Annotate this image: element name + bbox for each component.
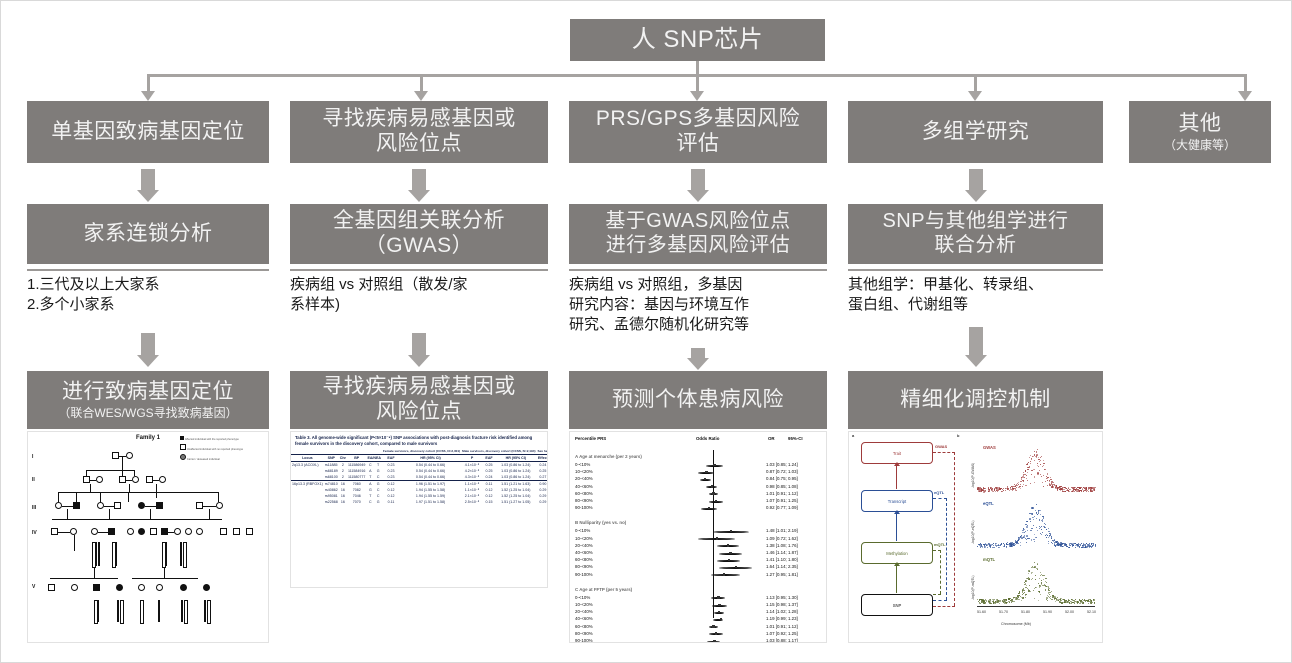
- forest-plot-panel[interactable]: Percentile PRS Odds Ratio OR 95%-CI A Ag…: [569, 431, 827, 643]
- forest-row-values: 1.07 [0.91; 1.25]: [766, 498, 798, 503]
- box-linkage[interactable]: 家系连锁分析: [27, 204, 269, 264]
- manhattan-point: [992, 489, 993, 490]
- manhattan-point: [1032, 566, 1033, 567]
- manhattan-point: [1020, 545, 1021, 546]
- box-other[interactable]: 其他 （大健康等）: [1129, 101, 1271, 163]
- manhattan-point: [1023, 530, 1024, 531]
- manhattan-point: [1037, 514, 1038, 515]
- manhattan-point: [1034, 534, 1035, 535]
- generation-label-1: I: [32, 454, 33, 460]
- manhattan-point: [1036, 518, 1037, 519]
- forest-row-values: 1.41 [1.10; 1.80]: [766, 557, 798, 562]
- manhattan-point: [1034, 469, 1036, 471]
- box-linkage-label: 家系连锁分析: [84, 222, 213, 247]
- manhattan-point: [1046, 597, 1048, 599]
- manhattan-point: [990, 600, 991, 601]
- manhattan-point: [1088, 491, 1089, 492]
- gwas-table-body: 2q13.3 (ACOXL)rs118852111586949CT0.230.5…: [291, 462, 548, 506]
- manhattan-point: [1038, 466, 1039, 467]
- manhattan-point: [1037, 530, 1038, 531]
- forest-point-estimate: [728, 559, 730, 561]
- manhattan-point: [1073, 545, 1074, 546]
- manhattan-point: [1011, 545, 1012, 546]
- arrow-to-risk-prediction: [684, 348, 712, 370]
- forest-point-estimate: [717, 596, 719, 598]
- manhattan-point: [1057, 543, 1058, 544]
- forest-row-band: 60-<80%: [575, 624, 593, 629]
- forest-point-estimate: [713, 640, 715, 642]
- forest-null-axis: [713, 450, 714, 618]
- manhattan-point: [1016, 487, 1017, 488]
- fan-arrow-3: [690, 91, 704, 101]
- gwas-table-cell: 7070: [347, 499, 366, 505]
- title-box[interactable]: 人 SNP芯片: [570, 19, 825, 61]
- manhattan-point: [1055, 485, 1056, 486]
- manhattan-point: [1085, 490, 1086, 491]
- manhattan-point: [1045, 469, 1046, 470]
- manhattan-point: [1077, 487, 1078, 488]
- ped-node: [126, 452, 133, 459]
- ped-node: [71, 584, 78, 591]
- forest-row-values: 1.27 [0.95; 1.81]: [766, 572, 798, 577]
- legend-item-1: Unaffected individual with no reported p…: [180, 444, 243, 451]
- manhattan-point: [1064, 600, 1065, 601]
- notes-omics: 其他组学：甲基化、转录组、蛋白组、代谢组等: [848, 269, 1103, 315]
- manhattan-point: [1023, 588, 1024, 589]
- manhattan-point: [1045, 585, 1046, 586]
- forest-row-band: 10-<20%: [575, 469, 593, 474]
- manhattan-y-label: -log10(P-eQTL): [971, 520, 975, 544]
- manhattan-point: [1072, 546, 1073, 547]
- legend-item-2: Carrier / deceased individual: [180, 454, 243, 461]
- manhattan-point: [989, 600, 990, 601]
- manhattan-point: [1011, 600, 1012, 601]
- manhattan-point: [1009, 599, 1010, 600]
- omics-panel[interactable]: a b Trait Transcript Methylation SNP: [848, 431, 1103, 643]
- manhattan-point: [1028, 573, 1029, 574]
- forest-row-band: 0-<10%: [575, 462, 590, 467]
- forest-row-values: 1.03 [0.88; 1.17]: [766, 638, 798, 643]
- arrow-to-susceptibility-result: [405, 333, 433, 369]
- manhattan-point: [1041, 580, 1042, 581]
- manhattan-point: [1005, 488, 1006, 489]
- manhattan-point: [1043, 517, 1045, 519]
- ped-node: [116, 584, 123, 591]
- gwas-table-cell: [291, 499, 324, 505]
- manhattan-point: [1069, 547, 1070, 548]
- manhattan-point: [1047, 473, 1048, 474]
- manhattan-xtick: 52.10: [1087, 610, 1096, 614]
- manhattan-point: [1089, 545, 1090, 546]
- manhattan-point: [1093, 487, 1095, 489]
- forest-row-values: 1.64 [1.14; 2.35]: [766, 564, 798, 569]
- manhattan-point: [1012, 601, 1013, 602]
- manhattan-point: [998, 490, 999, 491]
- manhattan-point: [1041, 476, 1042, 477]
- ped-node: [196, 502, 203, 509]
- manhattan-point: [1015, 490, 1016, 491]
- manhattan-point: [1004, 545, 1005, 546]
- generation-label-2: II: [32, 477, 35, 483]
- box-regulation-result[interactable]: 精细化调控机制: [848, 371, 1103, 429]
- manhattan-point: [1075, 599, 1076, 600]
- box-susceptibility-result[interactable]: 寻找疾病易感基因或风险位点: [290, 371, 548, 429]
- manhattan-point: [1026, 464, 1028, 466]
- manhattan-point: [1074, 600, 1075, 601]
- manhattan-point: [1043, 463, 1044, 464]
- manhattan-point: [1034, 477, 1035, 478]
- omics-node-methylation-label: Methylation: [886, 551, 907, 556]
- box-snp-omics-joint[interactable]: SNP与其他组学进行联合分析: [848, 204, 1103, 264]
- manhattan-point: [1037, 472, 1039, 474]
- manhattan-point: [1024, 590, 1025, 591]
- forest-row-values: 1.15 [0.98; 1.37]: [766, 602, 798, 607]
- manhattan-point: [985, 490, 986, 491]
- manhattan-point: [1048, 589, 1050, 591]
- manhattan-point: [983, 602, 984, 603]
- ped-node: [93, 584, 100, 591]
- manhattan-point: [1039, 528, 1040, 529]
- manhattan-point: [990, 547, 991, 548]
- manhattan-point: [1048, 543, 1049, 544]
- gwas-table-panel[interactable]: Table 3. All genome-wide significant (P<…: [290, 431, 548, 588]
- manhattan-point: [1036, 504, 1037, 505]
- manhattan-point: [1093, 545, 1094, 546]
- manhattan-point: [987, 547, 988, 548]
- box-gwas-label: 全基因组关联分析（GWAS）: [333, 209, 505, 259]
- manhattan-point: [1043, 460, 1044, 461]
- forest-row-band: 90-100%: [575, 638, 593, 643]
- manhattan-point: [1055, 487, 1056, 488]
- manhattan-point: [1015, 486, 1016, 487]
- fan-arrow-4: [968, 91, 982, 101]
- manhattan-point: [1026, 542, 1027, 543]
- forest-row-values: 1.46 [1.14; 1.87]: [766, 550, 798, 555]
- manhattan-point: [1036, 527, 1037, 528]
- ped-node: [70, 528, 77, 535]
- forest-section-label: C Age at FFTP (per 5 years): [575, 587, 632, 592]
- gwas-manhattan-label: GWAS: [983, 445, 996, 450]
- manhattan-point: [1026, 478, 1027, 479]
- gwas-table-cell: C: [366, 499, 374, 505]
- manhattan-point: [1033, 517, 1034, 518]
- manhattan-point: [1025, 485, 1027, 487]
- forest-point-estimate: [723, 573, 725, 575]
- manhattan-point: [1022, 591, 1023, 592]
- omics-link-mqtl-label: mQTL: [934, 542, 946, 547]
- pedigree-panel[interactable]: Family 1 Affected individual with the re…: [27, 431, 269, 643]
- gwas-col: HR (95% CI): [495, 455, 536, 462]
- flowchart-canvas: 人 SNP芯片 单基因致病基因定位 寻找疾病易感基因或风险位点 PRS/GPS多…: [0, 0, 1292, 663]
- manhattan-point: [1060, 490, 1061, 491]
- forest-row-values: 0.98 [0.85; 1.08]: [766, 484, 798, 489]
- manhattan-point: [1024, 477, 1025, 478]
- manhattan-point: [1030, 463, 1031, 464]
- manhattan-point: [1050, 534, 1051, 535]
- manhattan-point: [994, 547, 995, 548]
- ped-node: [180, 584, 187, 591]
- box-gwas[interactable]: 全基因组关联分析（GWAS）: [290, 204, 548, 264]
- manhattan-point: [1033, 539, 1035, 541]
- manhattan-point: [1024, 529, 1025, 530]
- manhattan-point: [1071, 599, 1072, 600]
- ped-node: [138, 502, 145, 509]
- forest-point-estimate: [729, 552, 731, 554]
- gwas-table-header-row: Locus SNP Chr BP EA/NEA EAF HR (95% CI) …: [291, 455, 548, 462]
- manhattan-point: [1086, 543, 1087, 544]
- manhattan-point: [1042, 585, 1043, 586]
- manhattan-point: [992, 599, 993, 600]
- manhattan-point: [1030, 530, 1032, 532]
- gwas-table-cell: 2.5×10⁻⁸: [461, 499, 483, 505]
- forest-row-band: 90-100%: [575, 505, 593, 510]
- manhattan-point: [1017, 543, 1019, 545]
- manhattan-point: [1037, 564, 1038, 565]
- ped-node: [220, 528, 227, 535]
- box-prs-gps-label: PRS/GPS多基因风险评估: [596, 107, 800, 157]
- manhattan-point: [1033, 590, 1034, 591]
- forest-row-band: 60-<80%: [575, 557, 593, 562]
- manhattan-point: [1029, 538, 1030, 539]
- manhattan-xtick: 51.70: [999, 610, 1008, 614]
- manhattan-point: [1023, 481, 1024, 482]
- box-snp-omics-joint-label: SNP与其他组学进行联合分析: [882, 210, 1068, 257]
- ped-node: [132, 476, 139, 483]
- arrow-monogenic-to-linkage: [134, 169, 162, 203]
- manhattan-point: [1082, 602, 1084, 604]
- forest-header-oddsratio: Odds Ratio: [696, 436, 719, 441]
- manhattan-point: [1015, 544, 1016, 545]
- manhattan-point: [1036, 537, 1037, 538]
- manhattan-point: [1031, 573, 1032, 574]
- manhattan-point: [1047, 480, 1048, 481]
- manhattan-point: [1032, 567, 1033, 568]
- manhattan-point: [1091, 602, 1092, 603]
- manhattan-point: [1061, 602, 1063, 604]
- forest-row-values: 1.01 [0.91; 1.12]: [766, 491, 798, 496]
- ped-node: [48, 584, 55, 591]
- forest-row-values: 1.09 [0.72; 1.62]: [766, 536, 798, 541]
- manhattan-point: [1039, 470, 1040, 471]
- arrow-prs-to-prsgwas: [684, 169, 712, 203]
- manhattan-point: [1062, 543, 1063, 544]
- manhattan-point: [1057, 490, 1058, 491]
- manhattan-point: [993, 545, 994, 546]
- forest-confidence-interval: [711, 574, 741, 576]
- manhattan-point: [1040, 457, 1041, 458]
- manhattan-point: [985, 547, 986, 548]
- manhattan-point: [1034, 482, 1035, 483]
- manhattan-point: [1047, 485, 1048, 486]
- manhattan-point: [1029, 571, 1030, 572]
- manhattan-xtick: 51.80: [1021, 610, 1030, 614]
- forest-row-band: 40-<60%: [575, 616, 593, 621]
- box-prs-from-gwas[interactable]: 基于GWAS风险位点进行多基因风险评估: [569, 204, 827, 264]
- manhattan-point: [1051, 599, 1052, 600]
- manhattan-point: [1060, 486, 1061, 487]
- box-prs-from-gwas-label: 基于GWAS风险位点进行多基因风险评估: [605, 210, 790, 257]
- manhattan-point: [1045, 578, 1047, 580]
- manhattan-point: [990, 545, 991, 546]
- manhattan-point: [1038, 591, 1039, 592]
- box-prs-gps[interactable]: PRS/GPS多基因风险评估: [569, 101, 827, 163]
- manhattan-point: [1034, 588, 1035, 589]
- manhattan-point: [1057, 488, 1059, 490]
- manhattan-point: [994, 599, 995, 600]
- manhattan-xtick: 51.60: [977, 610, 986, 614]
- forest-row-values: 1.03 [0.85; 1.24]: [766, 462, 798, 467]
- box-susceptibility-label: 寻找疾病易感基因或风险位点: [322, 107, 516, 157]
- manhattan-point: [987, 545, 988, 546]
- manhattan-point: [1029, 579, 1030, 580]
- omics-link-eqtl: [933, 498, 947, 499]
- manhattan-point: [1082, 489, 1083, 490]
- forest-row-band: 20-<40%: [575, 609, 593, 614]
- notes-linkage-text: 1.三代及以上大家系2.多个小家系: [27, 276, 160, 313]
- manhattan-point: [1050, 477, 1052, 479]
- box-gene-mapping-result[interactable]: 进行致病基因定位 （联合WES/WGS寻找致病基因）: [27, 371, 269, 429]
- manhattan-point: [1048, 541, 1049, 542]
- manhattan-point: [1024, 532, 1025, 533]
- notes-prs: 疾病组 vs 对照组，多基因研究内容：基因与环境互作研究、孟德尔随机化研究等: [569, 269, 827, 335]
- mqtl-manhattan-label: mQTL: [983, 557, 995, 562]
- manhattan-point: [988, 491, 989, 492]
- manhattan-point: [1095, 544, 1097, 546]
- manhattan-point: [1072, 490, 1073, 491]
- ped-node: [196, 528, 203, 535]
- gwas-col: Locus: [291, 455, 324, 462]
- manhattan-point: [1055, 598, 1056, 599]
- manhattan-point: [1041, 574, 1042, 575]
- forest-row-band: 40-<60%: [575, 550, 593, 555]
- manhattan-point: [1054, 596, 1055, 597]
- legend-item-0: Affected individual with the reported ph…: [180, 436, 243, 441]
- gwas-col: BP: [347, 455, 366, 462]
- ped-node: [108, 528, 115, 535]
- omics-link-eqtl-label: eQTL: [934, 490, 944, 495]
- manhattan-point: [1048, 537, 1049, 538]
- manhattan-point: [989, 489, 990, 490]
- manhattan-point: [1006, 599, 1007, 600]
- manhattan-point: [1075, 601, 1076, 602]
- manhattan-point: [1074, 603, 1075, 604]
- manhattan-point: [1025, 597, 1026, 598]
- manhattan-point: [985, 488, 986, 489]
- omics-node-snp: SNP: [861, 594, 933, 616]
- manhattan-point: [1021, 600, 1022, 601]
- manhattan-point: [1039, 461, 1040, 462]
- manhattan-point: [1002, 601, 1003, 602]
- manhattan-point: [998, 600, 999, 601]
- manhattan-point: [1009, 601, 1010, 602]
- forest-row-values: 1.01 [0.91; 1.12]: [766, 624, 798, 629]
- manhattan-point: [1049, 590, 1050, 591]
- manhattan-point: [1034, 451, 1035, 452]
- forest-point-estimate: [735, 566, 737, 568]
- forest-row-values: 1.19 [0.99; 1.23]: [766, 616, 798, 621]
- box-risk-prediction-result[interactable]: 预测个体患病风险: [569, 371, 827, 429]
- ped-node: [159, 476, 166, 483]
- manhattan-point: [1027, 521, 1028, 522]
- manhattan-point: [1043, 486, 1044, 487]
- ped-node: [91, 528, 98, 535]
- manhattan-point: [1045, 589, 1046, 590]
- manhattan-point: [1049, 588, 1050, 589]
- ped-node: [114, 502, 121, 509]
- manhattan-point: [1034, 460, 1035, 461]
- gwas-table-row: rs22568167070CG0.111.97 (1.51 to 1.58)2.…: [291, 499, 548, 505]
- manhattan-point: [1016, 541, 1017, 542]
- forest-header-percentile: Percentile PRS: [575, 436, 606, 441]
- manhattan-point: [1041, 526, 1042, 527]
- notes-gwas: 疾病组 vs 对照组（散发/家系样本): [290, 269, 548, 315]
- manhattan-point: [1040, 510, 1041, 511]
- ped-node: [127, 528, 134, 535]
- omics-node-transcript: Transcript: [861, 490, 933, 512]
- manhattan-point: [1030, 521, 1031, 522]
- box-susceptibility-result-label: 寻找疾病易感基因或风险位点: [322, 375, 516, 425]
- manhattan-point: [991, 490, 992, 491]
- omics-node-methylation: Methylation: [861, 542, 933, 564]
- ped-node: [146, 476, 153, 483]
- manhattan-point: [1023, 593, 1024, 594]
- manhattan-point: [1061, 546, 1062, 547]
- manhattan-point: [983, 487, 984, 488]
- manhattan-point: [1031, 474, 1032, 475]
- manhattan-point: [1035, 575, 1036, 576]
- manhattan-point: [1038, 512, 1039, 513]
- ped-node: [233, 528, 240, 535]
- manhattan-point: [1040, 594, 1041, 595]
- gwas-col: Effect: [537, 455, 549, 462]
- manhattan-point: [1095, 487, 1096, 488]
- box-multiomics[interactable]: 多组学研究: [848, 101, 1103, 163]
- forest-row-band: 80-<90%: [575, 564, 593, 569]
- manhattan-point: [1068, 600, 1069, 601]
- manhattan-point: [1024, 582, 1025, 583]
- manhattan-point: [1012, 544, 1013, 545]
- manhattan-point: [1043, 465, 1044, 466]
- manhattan-point: [1040, 575, 1041, 576]
- eqtl-manhattan-label: eQTL: [983, 501, 994, 506]
- gwas-col: EA/NEA: [366, 455, 382, 462]
- manhattan-point: [1054, 539, 1055, 540]
- manhattan-point: [1035, 456, 1036, 457]
- manhattan-point: [1063, 489, 1064, 490]
- box-monogenic[interactable]: 单基因致病基因定位: [27, 101, 269, 163]
- manhattan-point: [1034, 541, 1035, 542]
- forest-plot-figure: Percentile PRS Odds Ratio OR 95%-CI A Ag…: [570, 432, 826, 642]
- manhattan-point: [1070, 545, 1071, 546]
- pedigree-title: Family 1: [136, 435, 160, 441]
- manhattan-point: [1064, 602, 1065, 603]
- manhattan-point: [1088, 544, 1089, 545]
- ped-node: [150, 528, 157, 535]
- manhattan-point: [1032, 513, 1033, 514]
- manhattan-point: [1041, 456, 1042, 457]
- omics-node-trait: Trait: [861, 442, 933, 464]
- gwas-table-cell: 16: [339, 499, 347, 505]
- forest-row-band: 60-<80%: [575, 491, 593, 496]
- box-susceptibility[interactable]: 寻找疾病易感基因或风险位点: [290, 101, 548, 163]
- ped-node: [161, 528, 168, 535]
- manhattan-point: [1002, 491, 1003, 492]
- manhattan-point: [1013, 543, 1014, 544]
- forest-point-estimate: [704, 478, 706, 480]
- manhattan-point: [1051, 479, 1052, 480]
- forest-section-label: B Nulliparity (yes vs. no): [575, 520, 626, 525]
- forest-point-estimate: [712, 625, 714, 627]
